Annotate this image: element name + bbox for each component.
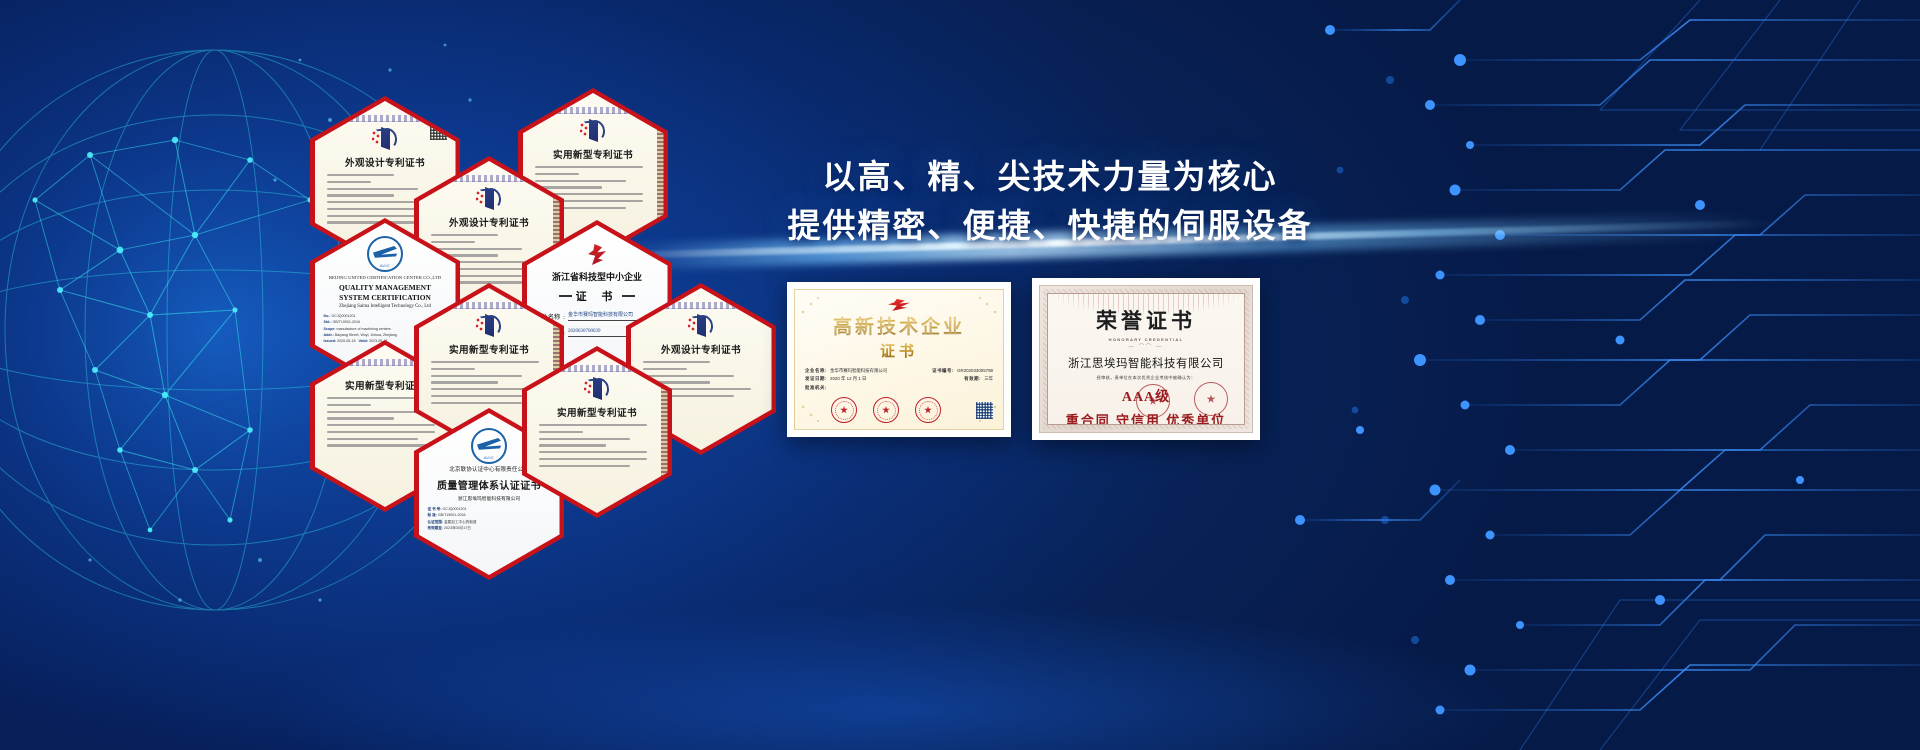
honorary-credential-certificate[interactable]: 荣誉证书 HONORARY CREDENTIAL — ⌒⌒ — 浙江思埃玛智能科… bbox=[1032, 278, 1260, 440]
headline-line-1: 以高、精、尖技术力量为核心 bbox=[770, 155, 1330, 199]
cert-subtitle-text: 证 书 bbox=[576, 288, 619, 304]
bottom-glow bbox=[0, 570, 1920, 750]
certificate-subtitle: 证书 bbox=[880, 340, 918, 361]
headline-line-2: 提供精密、便捷、快捷的伺服设备 bbox=[770, 204, 1330, 248]
certificate-award: 重合同 守信用 优秀单位 bbox=[1066, 410, 1227, 425]
company-label: 企业名称: bbox=[805, 367, 827, 375]
company-value: 金华市赛玛智能科技有限公司 bbox=[830, 367, 887, 375]
certificate-title: 荣誉证书 bbox=[1096, 305, 1196, 335]
banner-headline: 以高、精、尖技术力量为核心 提供精密、便捷、快捷的伺服设备 bbox=[770, 155, 1330, 247]
official-seal-icon bbox=[873, 397, 899, 423]
patent-flag-logo-icon bbox=[584, 377, 610, 403]
patent-flag-logo-icon bbox=[580, 119, 606, 145]
cert-issuer-en: BEIJING UNITED CERTIFICATION CENTER CO.,… bbox=[324, 275, 447, 281]
field-row-authority: 批准机关: bbox=[805, 384, 993, 392]
cert-company-en: Zhejiang Saima Intelligent Technology Co… bbox=[339, 304, 431, 309]
red-flame-logo-icon bbox=[888, 299, 910, 311]
high-tech-enterprise-certificate[interactable]: 高新技术企业 证书 企业名称: 金华市赛玛智能科技有限公司 证书编号: GR20… bbox=[787, 282, 1011, 437]
red-flame-logo-icon bbox=[585, 243, 609, 267]
certificate-note: 经审核，贵单位在本次优秀企业考核中被确认为： bbox=[1097, 375, 1196, 381]
cert-ornament bbox=[540, 107, 646, 114]
avic-seal-icon: AVIC bbox=[471, 428, 507, 464]
cert-detail-lines bbox=[536, 424, 659, 505]
certificate-seals bbox=[805, 397, 993, 423]
field-row-issue-date: 发证日期: 2020 年 12 月 1 日 有效期: 三年 bbox=[805, 375, 993, 383]
official-seal-icon bbox=[831, 397, 857, 423]
cert-title: 浙江省科技型中小企业 bbox=[552, 270, 642, 283]
cert-title: 实用新型专利证书 bbox=[557, 405, 637, 419]
corner-ornament-icon bbox=[797, 292, 827, 320]
number-value: GR202033005798 bbox=[957, 367, 993, 375]
validity-label: 有效期: bbox=[964, 375, 981, 383]
cert-title: 质量管理体系认证证书 bbox=[437, 477, 541, 492]
patent-flag-logo-icon bbox=[476, 314, 502, 340]
field-row-company: 企业名称: 金华市赛玛智能科技有限公司 证书编号: GR202033005798 bbox=[805, 367, 993, 375]
banner-stage: 外观设计专利证书 实用新型专利证书 bbox=[0, 0, 1920, 750]
certificate-title: 高新技术企业 bbox=[833, 312, 965, 339]
cert-edge-pattern bbox=[657, 123, 664, 219]
certificate-grade: AAA级 bbox=[1122, 386, 1170, 406]
cert-edge-pattern bbox=[661, 381, 668, 477]
qr-code-icon bbox=[430, 123, 447, 140]
divider-ornament: — ⌒⌒ — bbox=[1129, 343, 1164, 350]
cert-detail-lines: 证 书 号: GCJQ0001201 标 准: GB/T19001-2016 认… bbox=[428, 506, 551, 531]
number-label: 证书编号: bbox=[932, 367, 954, 375]
qr-code-icon bbox=[976, 402, 993, 419]
corner-ornament-icon bbox=[971, 292, 1001, 320]
patent-flag-logo-icon bbox=[372, 127, 398, 153]
cert-title: 实用新型专利证书 bbox=[553, 147, 633, 161]
certificate-company: 浙江思埃玛智能科技有限公司 bbox=[1068, 355, 1224, 371]
issue-value: 2020 年 12 月 1 日 bbox=[830, 375, 866, 383]
validity-value: 三年 bbox=[984, 375, 993, 383]
issue-label: 发证日期: bbox=[805, 375, 827, 383]
certificate-title-en: HONORARY CREDENTIAL bbox=[1109, 337, 1184, 342]
cert-ornament bbox=[332, 115, 438, 122]
cert-title: 实用新型专利证书 bbox=[345, 378, 425, 392]
corner-ornament-icon bbox=[797, 399, 827, 427]
certificate-fields: 企业名称: 金华市赛玛智能科技有限公司 证书编号: GR202033005798… bbox=[805, 367, 993, 392]
cert-company: 浙江思埃玛智能科技有限公司 bbox=[458, 495, 520, 502]
cert-title: 外观设计专利证书 bbox=[345, 155, 425, 169]
avic-seal-icon: AVIC bbox=[367, 236, 403, 272]
cert-title: 实用新型专利证书 bbox=[449, 342, 529, 356]
patent-flag-logo-icon bbox=[688, 314, 714, 340]
cert-subtitle: 证 书 bbox=[559, 288, 636, 304]
certificate-hexagon-cluster: 外观设计专利证书 实用新型专利证书 bbox=[300, 78, 750, 533]
authority-label: 批准机关: bbox=[805, 384, 827, 392]
cert-title: QUALITY MANAGEMENT SYSTEM CERTIFICATION bbox=[324, 283, 447, 302]
cert-title: 外观设计专利证书 bbox=[449, 215, 529, 229]
cert-title: 外观设计专利证书 bbox=[661, 342, 741, 356]
patent-flag-logo-icon bbox=[476, 187, 502, 213]
official-seal-icon bbox=[915, 397, 941, 423]
